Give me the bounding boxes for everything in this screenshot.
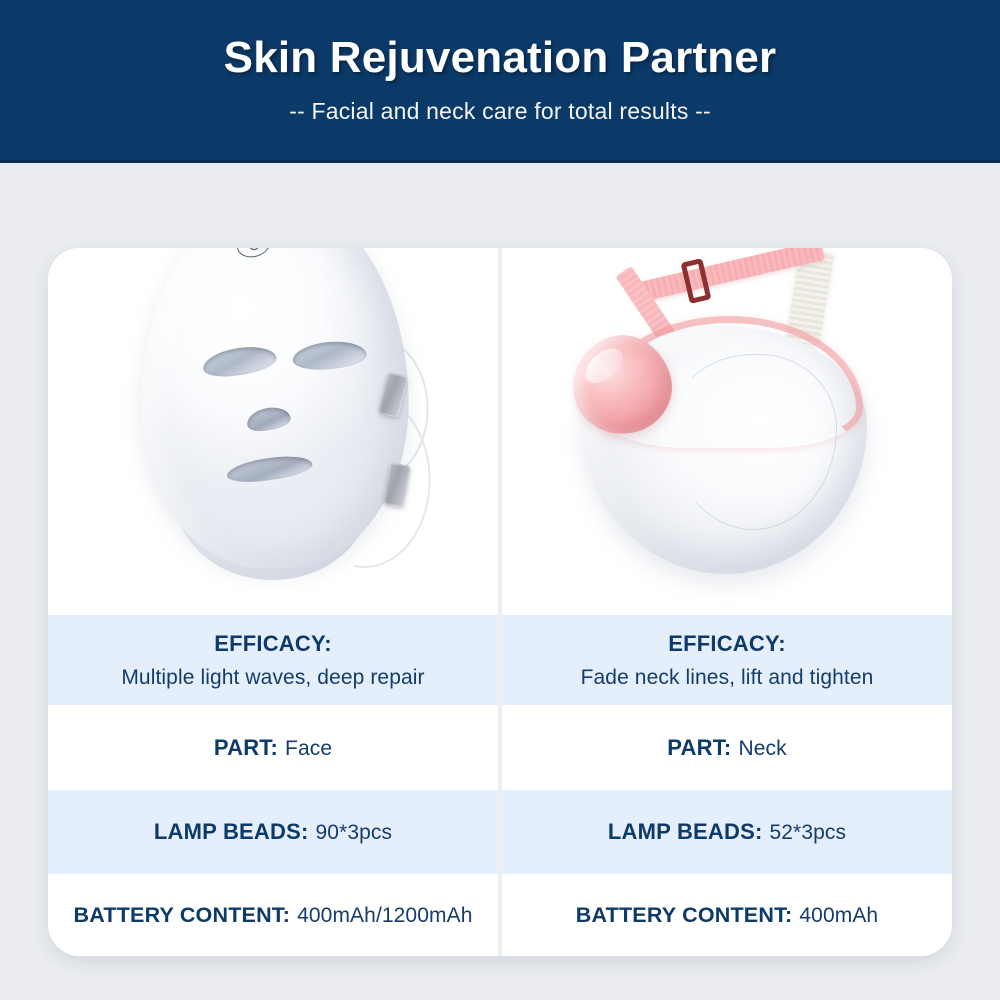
spec-value-part: Face [285, 737, 332, 761]
product-card-neck-device: EFFICACY: Fade neck lines, lift and tigh… [502, 248, 952, 956]
spec-value-battery-content: 400mAh [799, 904, 878, 928]
spec-row-battery-content: BATTERY CONTENT: 400mAh [502, 874, 952, 956]
spec-row-part: PART: Face [48, 705, 498, 790]
mask-nose-opening [245, 404, 292, 433]
spec-label-efficacy: EFFICACY: [214, 631, 332, 657]
spec-label-lamp-beads: LAMP BEADS: [608, 819, 763, 845]
neck-device-image-area [502, 248, 952, 615]
spec-value-battery-content: 400mAh/1200mAh [297, 904, 472, 928]
spec-label-battery-content: BATTERY CONTENT: [74, 903, 291, 928]
spec-row-lamp-beads: LAMP BEADS: 90*3pcs [48, 790, 498, 874]
mask-eye-opening-right [292, 339, 368, 372]
led-neck-device-photo [537, 248, 917, 615]
page-title: Skin Rejuvenation Partner [224, 35, 777, 81]
spec-label-part: PART: [667, 735, 731, 761]
spec-value-lamp-beads: 90*3pcs [315, 821, 392, 845]
spec-label-efficacy: EFFICACY: [668, 631, 786, 657]
spec-label-part: PART: [214, 735, 278, 761]
spec-value-lamp-beads: 52*3pcs [769, 821, 846, 845]
neck-device-spec-list: EFFICACY: Fade neck lines, lift and tigh… [502, 615, 952, 956]
neck-strap-buckle [681, 258, 712, 304]
page-subtitle: -- Facial and neck care for total result… [289, 98, 711, 125]
spec-label-battery-content: BATTERY CONTENT: [576, 903, 793, 928]
face-mask-spec-list: EFFICACY: Multiple light waves, deep rep… [48, 615, 498, 956]
led-face-mask-photo [115, 248, 445, 615]
product-comparison-panel: EFFICACY: Multiple light waves, deep rep… [48, 248, 952, 956]
spec-label-lamp-beads: LAMP BEADS: [154, 819, 309, 845]
mask-eye-opening-left [201, 342, 278, 380]
spec-row-part: PART: Neck [502, 705, 952, 790]
spec-row-efficacy: EFFICACY: Multiple light waves, deep rep… [48, 615, 498, 705]
spec-row-lamp-beads: LAMP BEADS: 52*3pcs [502, 790, 952, 874]
mask-mouth-opening [225, 452, 313, 486]
spec-value-efficacy: Fade neck lines, lift and tighten [581, 666, 874, 690]
mask-face-shell [141, 248, 409, 568]
product-card-face-mask: EFFICACY: Multiple light waves, deep rep… [48, 248, 498, 956]
neck-pod-highlight [579, 341, 629, 389]
spec-value-efficacy: Multiple light waves, deep repair [121, 666, 424, 690]
header-banner: Skin Rejuvenation Partner -- Facial and … [0, 0, 1000, 163]
spec-row-battery-content: BATTERY CONTENT: 400mAh/1200mAh [48, 874, 498, 956]
spec-row-efficacy: EFFICACY: Fade neck lines, lift and tigh… [502, 615, 952, 705]
infographic-page: Skin Rejuvenation Partner -- Facial and … [0, 0, 1000, 1000]
power-button-icon [234, 248, 274, 261]
face-mask-image-area [48, 248, 498, 615]
spec-value-part: Neck [738, 737, 786, 761]
